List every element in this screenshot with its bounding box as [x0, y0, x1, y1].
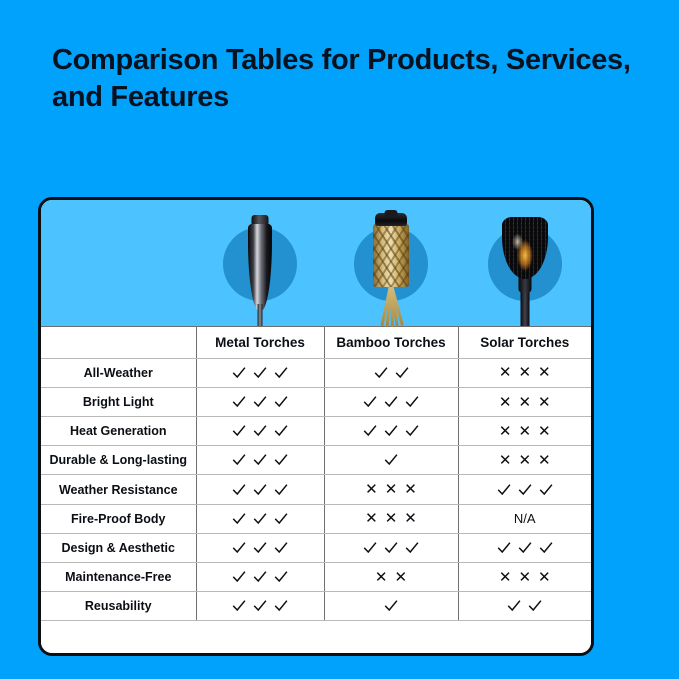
check-icon [253, 541, 267, 555]
rating-cell [324, 446, 458, 475]
check-icon [374, 366, 388, 380]
check-icon [232, 599, 246, 613]
bamboo-torch-weave [373, 224, 409, 287]
solar-torch-image [458, 201, 591, 326]
cross-icon: ✕ [499, 453, 512, 468]
product-name-metal: Metal Torches [196, 326, 324, 358]
check-icon [405, 424, 419, 438]
rating-marks [325, 359, 458, 387]
cross-icon: ✕ [499, 424, 512, 439]
cross-icon: ✕ [538, 570, 551, 585]
check-icon [518, 541, 532, 555]
rating-cell: ✕✕✕ [324, 475, 458, 504]
rating-cell: ✕✕✕ [324, 504, 458, 533]
check-icon [232, 424, 246, 438]
page-title: Comparison Tables for Products, Services… [52, 42, 632, 116]
rating-cell: ✕✕✕ [458, 562, 591, 591]
check-icon [405, 395, 419, 409]
rating-marks [325, 592, 458, 620]
rating-marks [197, 417, 324, 445]
product-image-cell-solar [458, 200, 591, 326]
product-name-row: Metal Torches Bamboo Torches Solar Torch… [41, 326, 591, 358]
rating-marks [197, 505, 324, 533]
check-icon [232, 483, 246, 497]
rating-cell [196, 504, 324, 533]
rating-marks: ✕✕✕ [459, 359, 592, 387]
cross-icon: ✕ [499, 570, 512, 585]
check-icon [384, 599, 398, 613]
rating-marks [197, 446, 324, 474]
comparison-table-card: Metal Torches Bamboo Torches Solar Torch… [38, 197, 594, 656]
check-icon [274, 599, 288, 613]
rating-cell: ✕✕✕ [458, 358, 591, 387]
rating-cell [324, 592, 458, 621]
check-icon [274, 512, 288, 526]
cross-icon: ✕ [518, 453, 531, 468]
table-row: All-Weather✕✕✕ [41, 358, 591, 387]
check-icon [363, 541, 377, 555]
rating-cell [196, 388, 324, 417]
not-applicable-label: N/A [514, 511, 536, 526]
check-icon [363, 395, 377, 409]
rating-cell [196, 446, 324, 475]
check-icon [253, 512, 267, 526]
rating-cell [324, 358, 458, 387]
product-image-cell-bamboo [324, 200, 458, 326]
cross-icon: ✕ [385, 511, 398, 526]
solar-torch-pole [520, 290, 529, 326]
check-icon [507, 599, 521, 613]
check-icon [363, 424, 377, 438]
feature-label: Heat Generation [41, 417, 196, 446]
feature-label: Durable & Long-lasting [41, 446, 196, 475]
cross-icon: ✕ [499, 395, 512, 410]
rating-marks [459, 534, 592, 562]
check-icon [274, 366, 288, 380]
solar-torch-flame-head [502, 217, 548, 279]
check-icon [232, 512, 246, 526]
check-icon [253, 599, 267, 613]
rating-cell: N/A [458, 504, 591, 533]
table-row: Heat Generation✕✕✕ [41, 417, 591, 446]
cross-icon: ✕ [404, 511, 417, 526]
check-icon [253, 424, 267, 438]
check-icon [405, 541, 419, 555]
feature-column-label [41, 326, 196, 358]
metal-torch-cap [252, 215, 269, 224]
rating-marks: ✕✕✕ [459, 446, 592, 474]
table-row: Bright Light✕✕✕ [41, 388, 591, 417]
cross-icon: ✕ [518, 365, 531, 380]
table-row: Fire-Proof Body✕✕✕N/A [41, 504, 591, 533]
feature-label: Bright Light [41, 388, 196, 417]
cross-icon: ✕ [499, 365, 512, 380]
cross-icon: ✕ [395, 570, 408, 585]
check-icon [274, 541, 288, 555]
rating-cell [196, 592, 324, 621]
rating-marks [197, 475, 324, 503]
check-icon [539, 483, 553, 497]
rating-cell [196, 562, 324, 591]
rating-marks [197, 563, 324, 591]
feature-label: Weather Resistance [41, 475, 196, 504]
rating-marks [459, 592, 592, 620]
feature-label: Maintenance-Free [41, 562, 196, 591]
rating-cell [458, 533, 591, 562]
product-name-bamboo: Bamboo Torches [324, 326, 458, 358]
rating-marks [197, 359, 324, 387]
check-icon [232, 570, 246, 584]
table-row: Maintenance-Free✕✕✕✕✕ [41, 562, 591, 591]
rating-marks [197, 388, 324, 416]
check-icon [232, 453, 246, 467]
check-icon [384, 453, 398, 467]
cross-icon: ✕ [385, 482, 398, 497]
metal-torch-image [196, 201, 324, 326]
rating-cell [196, 358, 324, 387]
feature-label: Reusability [41, 592, 196, 621]
check-icon [232, 541, 246, 555]
cross-icon: ✕ [365, 482, 378, 497]
cross-icon: ✕ [375, 570, 388, 585]
rating-marks [197, 592, 324, 620]
check-icon [253, 395, 267, 409]
bamboo-torch-knob [385, 210, 398, 217]
rating-marks: ✕✕✕ [325, 505, 458, 533]
cross-icon: ✕ [404, 482, 417, 497]
rating-marks [325, 417, 458, 445]
rating-marks: ✕✕✕ [325, 475, 458, 503]
feature-column-header-blank [41, 200, 196, 326]
rating-cell [196, 533, 324, 562]
table-bottom-filler [41, 621, 591, 653]
check-icon [253, 366, 267, 380]
rating-marks: ✕✕✕ [459, 388, 592, 416]
table-row: Reusability [41, 592, 591, 621]
check-icon [253, 483, 267, 497]
check-icon [274, 453, 288, 467]
check-icon [528, 599, 542, 613]
rating-cell: ✕✕✕ [458, 446, 591, 475]
cross-icon: ✕ [518, 570, 531, 585]
feature-label: Fire-Proof Body [41, 504, 196, 533]
check-icon [232, 366, 246, 380]
check-icon [274, 395, 288, 409]
cross-icon: ✕ [518, 395, 531, 410]
rating-cell [196, 417, 324, 446]
rating-marks [325, 388, 458, 416]
check-icon [232, 395, 246, 409]
rating-marks [197, 534, 324, 562]
rating-marks [325, 534, 458, 562]
check-icon [518, 483, 532, 497]
rating-marks: N/A [459, 505, 592, 533]
cross-icon: ✕ [538, 453, 551, 468]
rating-cell: ✕✕✕ [458, 417, 591, 446]
rating-cell: ✕✕ [324, 562, 458, 591]
bamboo-torch-legs [365, 283, 417, 327]
feature-label: All-Weather [41, 358, 196, 387]
check-icon [497, 541, 511, 555]
table-row: Design & Aesthetic [41, 533, 591, 562]
rating-marks: ✕✕✕ [459, 417, 592, 445]
metal-torch-body [248, 223, 272, 311]
rating-cell [324, 388, 458, 417]
metal-torch-stem [258, 304, 263, 326]
feature-label: Design & Aesthetic [41, 533, 196, 562]
cross-icon: ✕ [365, 511, 378, 526]
cross-icon: ✕ [538, 424, 551, 439]
check-icon [539, 541, 553, 555]
rating-cell [458, 475, 591, 504]
cross-icon: ✕ [518, 424, 531, 439]
rating-marks: ✕✕✕ [459, 563, 592, 591]
check-icon [274, 483, 288, 497]
check-icon [274, 424, 288, 438]
rating-marks [459, 475, 592, 503]
check-icon [384, 424, 398, 438]
rating-cell [324, 533, 458, 562]
bamboo-torch-image [324, 201, 458, 326]
check-icon [384, 541, 398, 555]
table-row: Weather Resistance✕✕✕ [41, 475, 591, 504]
check-icon [253, 453, 267, 467]
check-icon [253, 570, 267, 584]
rating-cell: ✕✕✕ [458, 388, 591, 417]
cross-icon: ✕ [538, 395, 551, 410]
rating-cell [458, 592, 591, 621]
cross-icon: ✕ [538, 365, 551, 380]
product-image-cell-metal [196, 200, 324, 326]
check-icon [395, 366, 409, 380]
table-row: Durable & Long-lasting✕✕✕ [41, 446, 591, 475]
rating-marks: ✕✕ [325, 563, 458, 591]
comparison-table: Metal Torches Bamboo Torches Solar Torch… [41, 200, 591, 653]
check-icon [497, 483, 511, 497]
product-name-solar: Solar Torches [458, 326, 591, 358]
product-image-row [41, 200, 591, 326]
rating-cell [324, 417, 458, 446]
check-icon [384, 395, 398, 409]
rating-marks [325, 446, 458, 474]
rating-cell [196, 475, 324, 504]
check-icon [274, 570, 288, 584]
